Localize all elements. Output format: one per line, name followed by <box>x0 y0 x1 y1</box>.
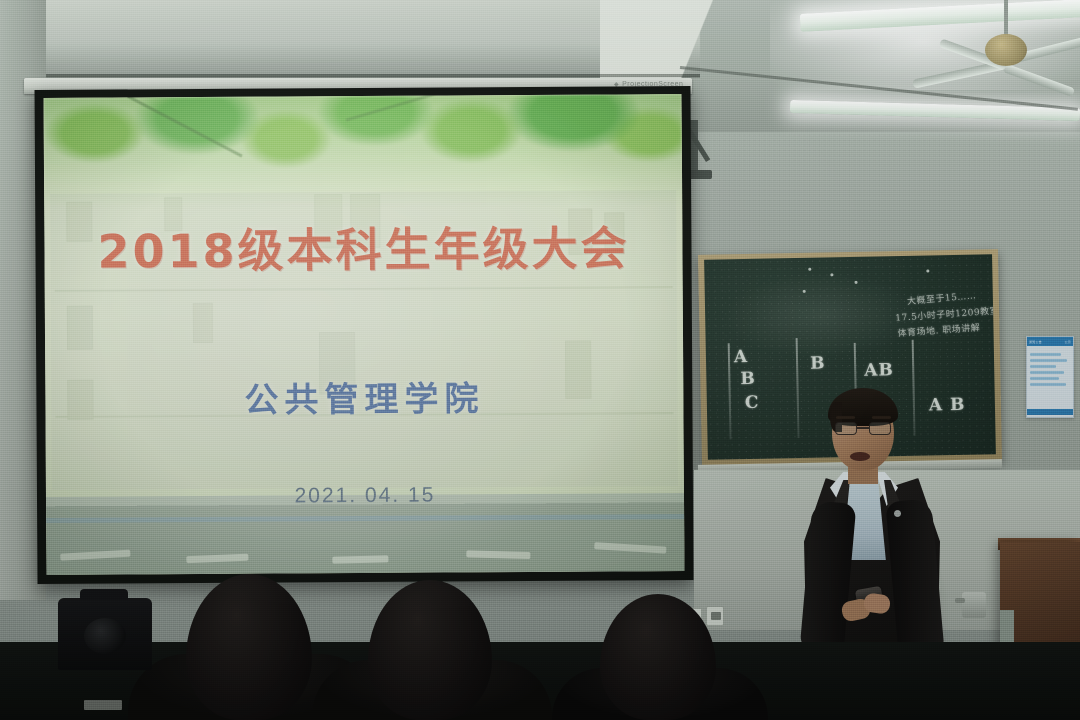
wall-valve[interactable] <box>962 592 986 618</box>
chalk-letter: AB <box>864 360 894 381</box>
ceiling-fan-icon <box>985 34 1027 66</box>
ceiling-fan-rod <box>1004 0 1008 38</box>
chalk-letter: B <box>740 369 756 389</box>
speaker-hair <box>828 388 898 426</box>
eyeglasses-icon <box>834 422 892 435</box>
notice-header-right: 公示 <box>1065 340 1071 344</box>
lecture-hall-photo: ProjectionScreen <box>0 0 1080 720</box>
chalk-letter: C <box>745 393 760 413</box>
slide-surface: 2018级本科生年级大会 公共管理学院 2021. 04. 15 <box>44 94 685 575</box>
wall-notice-poster: 通知公告 公示 <box>1026 336 1074 418</box>
camera-rig-label <box>84 700 122 710</box>
chalk-letter: A <box>734 347 749 367</box>
chalk-letter: B <box>810 353 826 373</box>
notice-footer <box>1027 409 1073 415</box>
wall-seam <box>0 74 700 77</box>
notice-body <box>1027 346 1073 393</box>
notice-header: 通知公告 公示 <box>1027 337 1073 346</box>
lapel-badge <box>894 510 901 517</box>
projection-screen[interactable]: 2018级本科生年级大会 公共管理学院 2021. 04. 15 <box>34 86 693 584</box>
ceiling-soffit <box>0 0 700 78</box>
slide-vignette <box>44 94 685 575</box>
notice-header-left: 通知公告 <box>1029 340 1042 344</box>
wall-outlet[interactable] <box>706 606 724 626</box>
camera-rig <box>58 598 152 670</box>
